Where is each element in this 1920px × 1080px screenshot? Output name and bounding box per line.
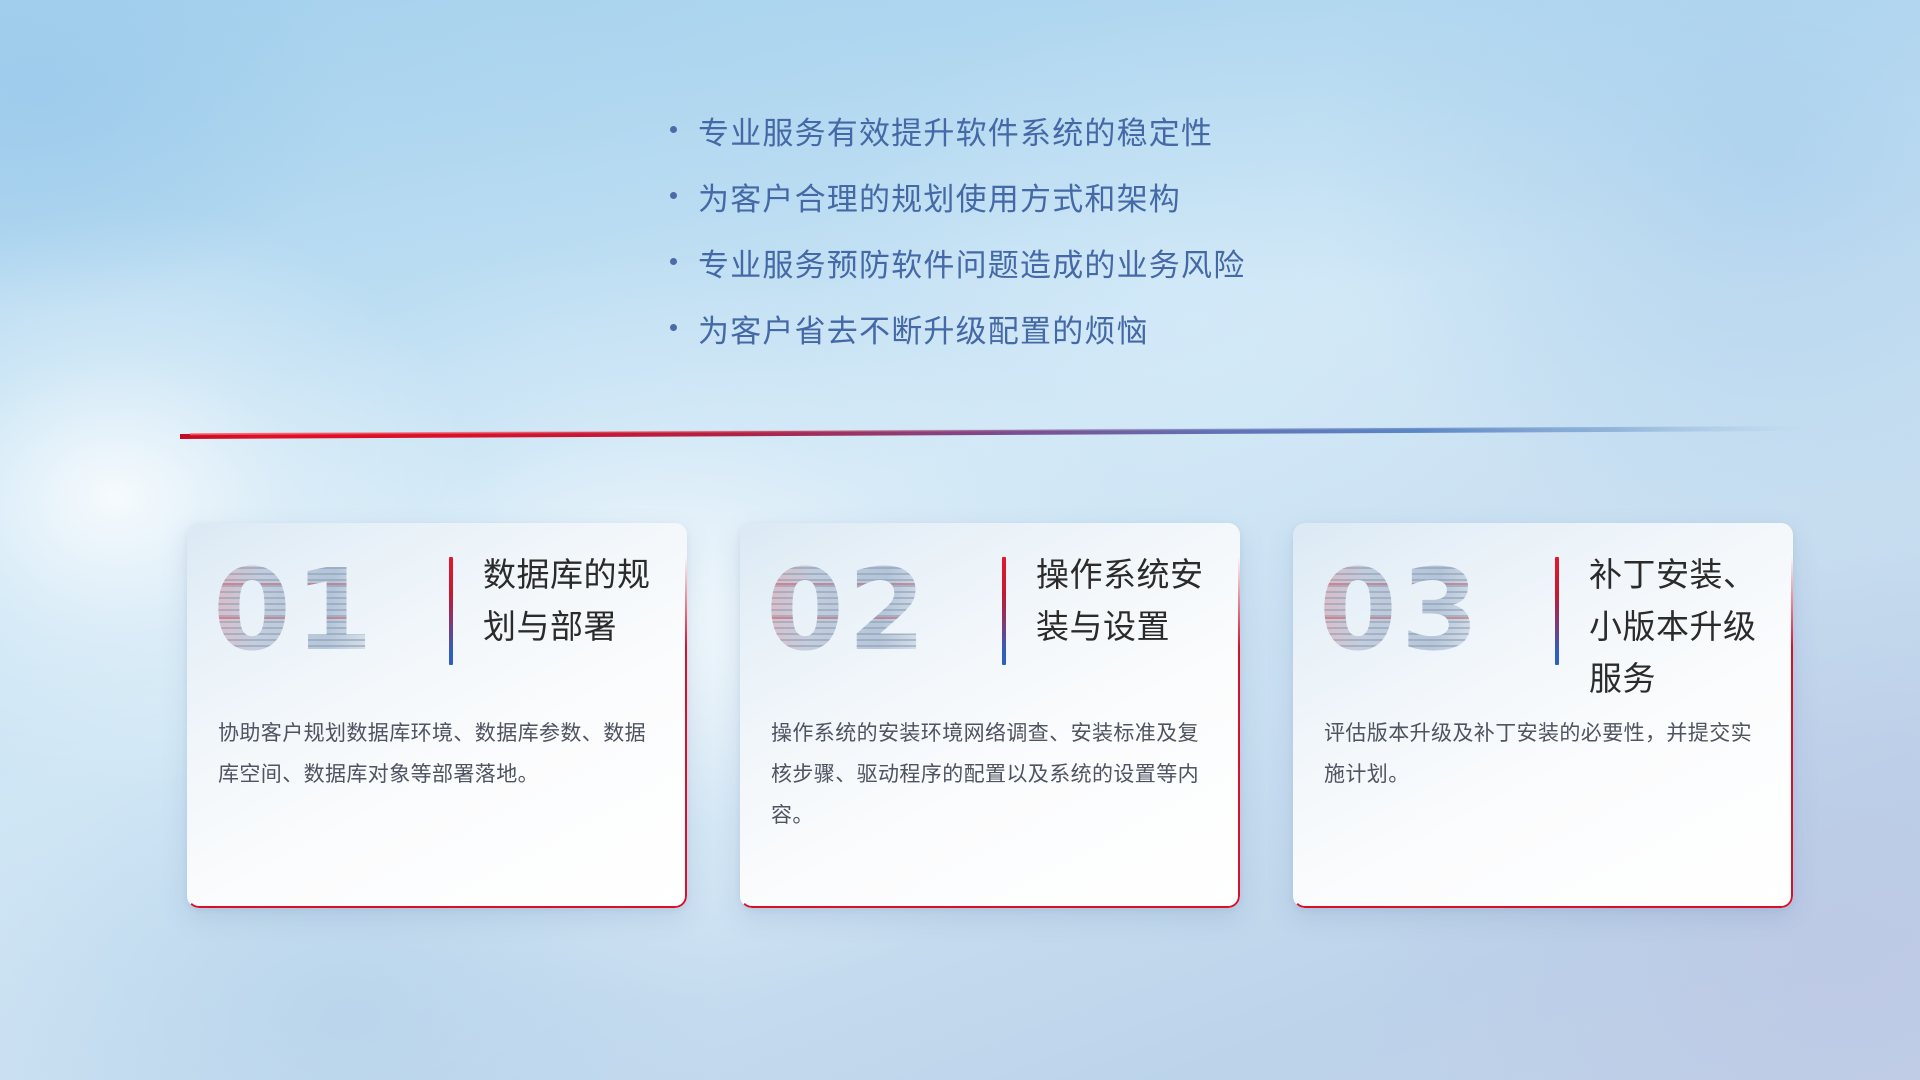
- bullet-text: 专业服务预防软件问题造成的业务风险: [698, 240, 1245, 285]
- card-number-watermark: 03: [1319, 549, 1483, 673]
- service-card-grid: 01 01 数据库的规划与部署 协助客户规划数据库环境、数据库参数、数据库空间、…: [0, 523, 1920, 933]
- card-surface: 01 01 数据库的规划与部署 协助客户规划数据库环境、数据库参数、数据库空间、…: [187, 523, 687, 908]
- card-body-text: 操作系统的安装环境网络调查、安装标准及复核步骤、驱动程序的配置以及系统的设置等内…: [771, 713, 1217, 836]
- list-item: 为客户省去不断升级配置的烦恼: [670, 306, 1430, 372]
- list-item: 专业服务有效提升软件系统的稳定性: [670, 108, 1430, 174]
- bullet-text: 为客户合理的规划使用方式和架构: [698, 174, 1181, 219]
- card-title: 数据库的规划与部署: [483, 549, 683, 653]
- bullet-text: 为客户省去不断升级配置的烦恼: [698, 306, 1149, 351]
- card-title: 操作系统安装与设置: [1036, 549, 1236, 653]
- card-title: 补丁安装、小版本升级服务: [1589, 549, 1789, 705]
- card-number-watermark: 01: [213, 549, 377, 673]
- list-item: 专业服务预防软件问题造成的业务风险: [670, 240, 1430, 306]
- card-body-text: 协助客户规划数据库环境、数据库参数、数据库空间、数据库对象等部署落地。: [218, 713, 664, 795]
- bullet-dot-icon: [670, 135, 698, 142]
- title-accent-bar: [1002, 557, 1006, 665]
- service-card[interactable]: 03 03 补丁安装、小版本升级服务 评估版本升级及补丁安装的必要性，并提交实施…: [1293, 523, 1793, 908]
- benefits-bullet-list: 专业服务有效提升软件系统的稳定性 为客户合理的规划使用方式和架构 专业服务预防软…: [670, 108, 1430, 372]
- list-item: 为客户合理的规划使用方式和架构: [670, 174, 1430, 240]
- bullet-dot-icon: [670, 267, 698, 274]
- bullet-dot-icon: [670, 201, 698, 208]
- card-header: 01 01 数据库的规划与部署: [187, 549, 687, 679]
- card-number-watermark: 02: [766, 549, 930, 673]
- section-divider: [180, 420, 1810, 442]
- bullet-text: 专业服务有效提升软件系统的稳定性: [698, 108, 1213, 153]
- service-card[interactable]: 01 01 数据库的规划与部署 协助客户规划数据库环境、数据库参数、数据库空间、…: [187, 523, 687, 908]
- service-card[interactable]: 02 02 操作系统安装与设置 操作系统的安装环境网络调查、安装标准及复核步骤、…: [740, 523, 1240, 908]
- card-surface: 02 02 操作系统安装与设置 操作系统的安装环境网络调查、安装标准及复核步骤、…: [740, 523, 1240, 908]
- title-accent-bar: [449, 557, 453, 665]
- card-surface: 03 03 补丁安装、小版本升级服务 评估版本升级及补丁安装的必要性，并提交实施…: [1293, 523, 1793, 908]
- card-body-text: 评估版本升级及补丁安装的必要性，并提交实施计划。: [1324, 713, 1770, 795]
- card-header: 02 02 操作系统安装与设置: [740, 549, 1240, 679]
- bullet-dot-icon: [670, 333, 698, 340]
- card-header: 03 03 补丁安装、小版本升级服务: [1293, 549, 1793, 679]
- title-accent-bar: [1555, 557, 1559, 665]
